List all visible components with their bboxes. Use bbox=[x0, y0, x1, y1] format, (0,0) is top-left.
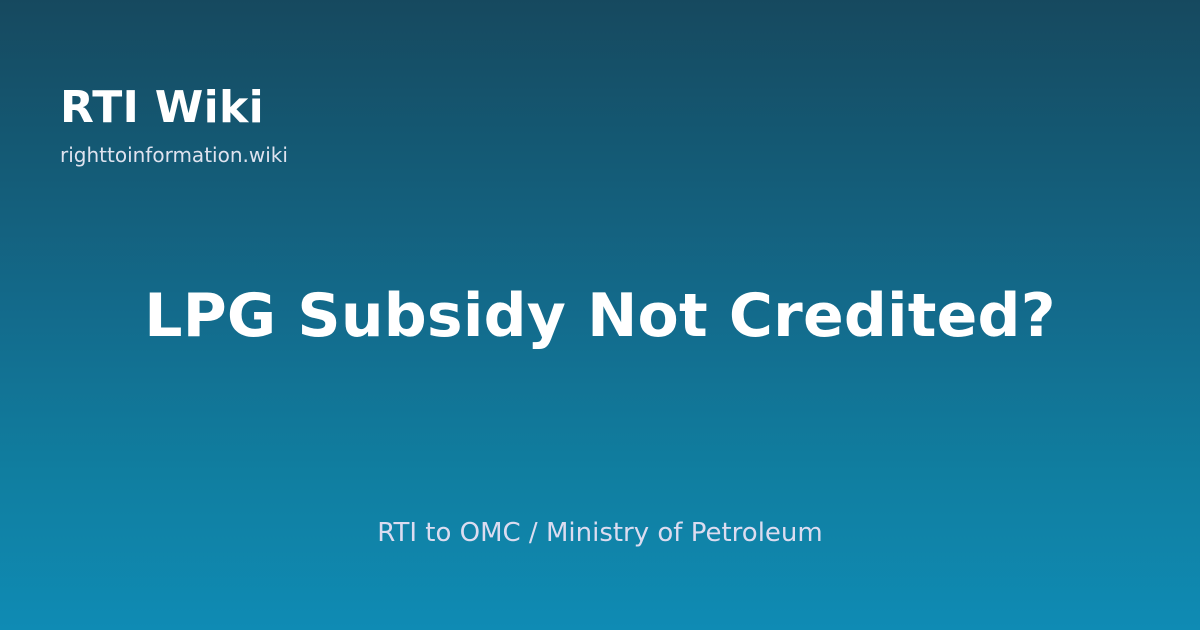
brand-block: RTI Wiki righttoinformation.wiki bbox=[60, 86, 288, 166]
social-share-card: RTI Wiki righttoinformation.wiki LPG Sub… bbox=[0, 0, 1200, 630]
footer-caption: RTI to OMC / Ministry of Petroleum bbox=[377, 518, 822, 549]
footer-container: RTI to OMC / Ministry of Petroleum bbox=[0, 516, 1200, 552]
page-title: LPG Subsidy Not Credited? bbox=[144, 283, 1055, 350]
brand-name: RTI Wiki bbox=[60, 86, 264, 130]
headline-container: LPG Subsidy Not Credited? bbox=[0, 272, 1200, 362]
brand-domain: righttoinformation.wiki bbox=[60, 144, 288, 166]
